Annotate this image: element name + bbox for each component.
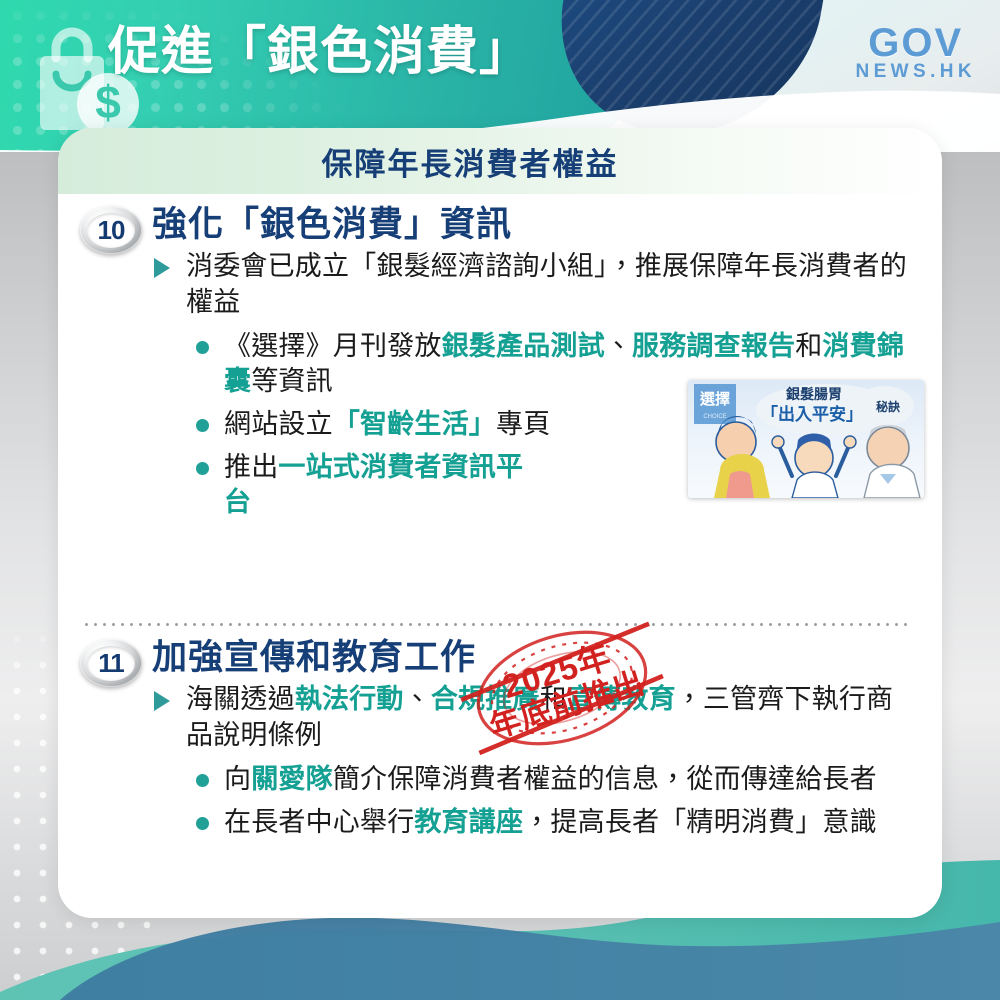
- bullet-text: 在長者中心舉行教育講座，提高長者「精明消費」意識: [224, 807, 877, 837]
- highlighted-term: 宣傳教育: [567, 684, 676, 714]
- body-text-run: 簡介保障消費者權益的信息，從而傳達給長者: [333, 764, 877, 794]
- section-header-band: 保障年長消費者權益: [58, 128, 942, 194]
- bullet-text: 向關愛隊簡介保障消費者權益的信息，從而傳達給長者: [224, 764, 877, 794]
- section-title: 保障年長消費者權益: [322, 139, 619, 184]
- logo-gov-text: GOV: [855, 24, 976, 62]
- body-text-run: 網站設立: [224, 409, 333, 439]
- infographic-canvas: $ 促進「銀色消費」 GOV NEWS.HK 保障年長消費者權益 10: [0, 0, 1000, 1000]
- item-title-10: 強化「銀色消費」資訊: [152, 204, 918, 245]
- body-text-run: 等資訊: [251, 366, 333, 396]
- card-body: 10 強化「銀色消費」資訊 消委會已成立「銀髮經濟諮詢小組」，推展保障年長消費者…: [58, 194, 942, 840]
- svg-text:CHOICE: CHOICE: [703, 414, 726, 420]
- list-item: 向關愛隊簡介保障消費者權益的信息，從而傳達給長者: [194, 762, 918, 797]
- item-number-badge-11: 11: [80, 639, 142, 687]
- highlighted-term: 服務調查報告: [632, 331, 795, 361]
- dot-bullet-icon: [196, 462, 209, 475]
- dot-bullet-icon: [196, 419, 209, 432]
- lead-text: 消委會已成立「銀髮經濟諮詢小組」，推展保障年長消費者的權益: [186, 251, 907, 317]
- badge-inner: 11: [87, 646, 135, 681]
- svg-text:秘訣: 秘訣: [876, 399, 900, 414]
- body-text-run: 、: [605, 331, 632, 361]
- list-item: 在長者中心舉行教育講座，提高長者「精明消費」意識: [194, 805, 884, 840]
- highlighted-term: 銀髮產品測試: [442, 331, 605, 361]
- list-item: 推出一站式消費者資訊平台: [194, 450, 524, 520]
- section-divider: [82, 622, 912, 627]
- item-number-10: 10: [98, 215, 125, 246]
- item-title-11: 加強宣傳和教育工作: [152, 637, 918, 678]
- body-text-run: 海關透過: [186, 684, 295, 714]
- bullet-text: 推出一站式消費者資訊平台: [224, 452, 523, 517]
- item-number-11: 11: [98, 648, 124, 679]
- dot-bullet-icon: [196, 341, 209, 354]
- body-text-run: 向: [224, 764, 251, 794]
- choice-magazine-thumbnail: 選擇 CHOICE 銀髮腸胃 「出入平安」 秘訣: [688, 380, 924, 498]
- item-lead-11: 海關透過執法行動、合規推廣和宣傳教育，三管齊下執行商品說明條例: [152, 682, 918, 753]
- govnews-logo[interactable]: GOV NEWS.HK: [855, 24, 976, 82]
- badge-inner: 10: [87, 213, 135, 248]
- item-number-badge-10: 10: [80, 206, 142, 254]
- item-lead-10: 消委會已成立「銀髮經濟諮詢小組」，推展保障年長消費者的權益: [152, 249, 918, 320]
- body-text-run: 在長者中心舉行: [224, 807, 414, 837]
- lead-text: 海關透過執法行動、合規推廣和宣傳教育，三管齊下執行商品說明條例: [186, 684, 893, 750]
- bullet-text: 網站設立「智齡生活」專頁: [224, 409, 550, 439]
- body-text-run: 消委會已成立「銀髮經濟諮詢小組」，推展保障年長消費者的權益: [186, 251, 907, 317]
- body-text-run: 專頁: [496, 409, 550, 439]
- body-text-run: 推出: [224, 452, 278, 482]
- logo-newshk-text: NEWS.HK: [855, 62, 976, 82]
- highlighted-term: 合規推廣: [431, 684, 540, 714]
- body-text-run: 《選擇》月刊發放: [224, 331, 442, 361]
- svg-text:銀髮腸胃: 銀髮腸胃: [786, 386, 842, 402]
- body-text-run: 、: [404, 684, 431, 714]
- sub-bullet-list-11: 向關愛隊簡介保障消費者權益的信息，從而傳達給長者 在長者中心舉行教育講座，提高長…: [152, 762, 918, 840]
- page-title: 促進「銀色消費」: [108, 22, 532, 83]
- dot-bullet-icon: [196, 774, 209, 787]
- body-text-run: ，提高長者「精明消費」意識: [523, 807, 877, 837]
- highlighted-term: 教育講座: [414, 807, 523, 837]
- item-block-11: 11 加強宣傳和教育工作 海關透過執法行動、合規推廣和宣傳教育，三管齊下執行商品…: [76, 637, 918, 840]
- body-text-run: 和: [795, 331, 822, 361]
- highlighted-term: 「智齡生活」: [333, 409, 496, 439]
- content-card: 保障年長消費者權益 10 強化「銀色消費」資訊 消委會已成立「銀髮經濟諮詢小組」…: [58, 128, 942, 918]
- svg-text:「出入平安」: 「出入平安」: [761, 404, 863, 424]
- triangle-bullet-icon: [154, 258, 170, 278]
- svg-text:選擇: 選擇: [699, 390, 730, 408]
- triangle-bullet-icon: [154, 691, 170, 711]
- highlighted-term: 執法行動: [295, 684, 404, 714]
- body-text-run: 和: [540, 684, 567, 714]
- highlighted-term: 關愛隊: [251, 764, 333, 794]
- dot-bullet-icon: [196, 817, 209, 830]
